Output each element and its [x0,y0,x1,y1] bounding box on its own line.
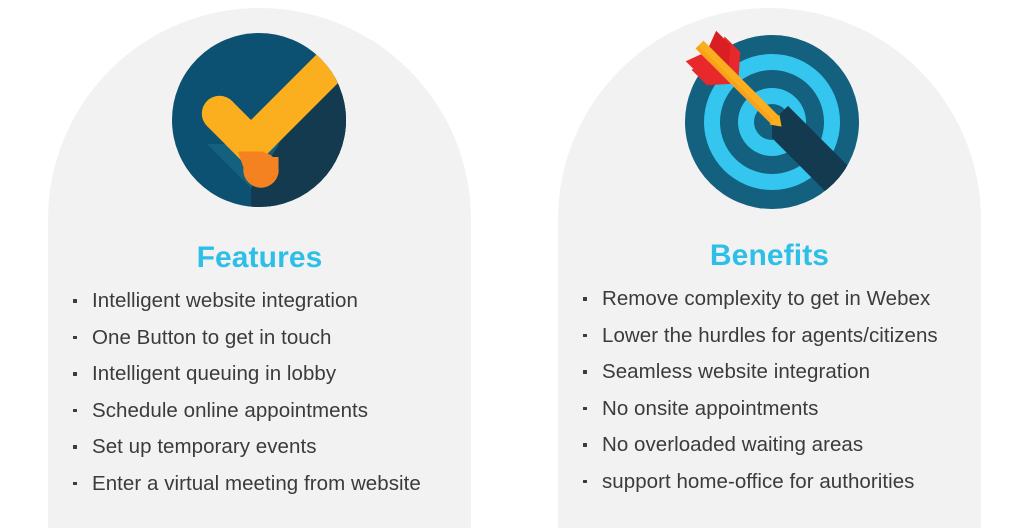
list-item-label: Schedule online appointments [92,399,368,422]
benefits-heading: Benefits [558,241,981,271]
bullet-icon [73,336,77,340]
list-item: Seamless website integration [578,357,978,394]
bullet-icon [73,445,77,449]
bullet-icon [583,370,587,374]
list-item-label: Intelligent website integration [92,289,358,312]
list-item: No onsite appointments [578,394,978,431]
bullet-icon [73,299,77,303]
list-item: Remove complexity to get in Webex [578,284,978,321]
checkmark-circle-icon [159,20,359,220]
list-item: One Button to get in touch [68,323,468,360]
slide-canvas: Features Intelligent website integration… [0,0,1024,502]
bullet-icon [583,334,587,338]
features-list: Intelligent website integration One Butt… [68,286,468,506]
list-item: Schedule online appointments [68,396,468,433]
list-item: Lower the hurdles for agents/citizens [578,321,978,358]
features-heading: Features [48,243,471,273]
bullet-icon [73,409,77,413]
list-item: Intelligent website integration [68,286,468,323]
list-item-label: support home-office for authorities [602,470,914,493]
list-item-label: Seamless website integration [602,360,870,383]
list-item: No overloaded waiting areas [578,430,978,467]
list-item-label: Remove complexity to get in Webex [602,287,930,310]
list-item-label: No overloaded waiting areas [602,433,863,456]
list-item: support home-office for authorities [578,467,978,504]
list-item: Set up temporary events [68,432,468,469]
list-item-label: Intelligent queuing in lobby [92,362,336,385]
bullet-icon [583,407,587,411]
list-item-label: Set up temporary events [92,435,317,458]
list-item: Enter a virtual meeting from website [68,469,468,506]
list-item-label: One Button to get in touch [92,326,332,349]
bullet-icon [73,482,77,486]
bullet-icon [583,480,587,484]
benefits-list: Remove complexity to get in Webex Lower … [578,284,978,504]
list-item-label: Enter a virtual meeting from website [92,472,421,495]
target-arrow-icon [672,22,872,222]
bullet-icon [583,443,587,447]
list-item-label: No onsite appointments [602,397,818,420]
bullet-icon [583,297,587,301]
bullet-icon [73,372,77,376]
list-item-label: Lower the hurdles for agents/citizens [602,324,938,347]
list-item: Intelligent queuing in lobby [68,359,468,396]
